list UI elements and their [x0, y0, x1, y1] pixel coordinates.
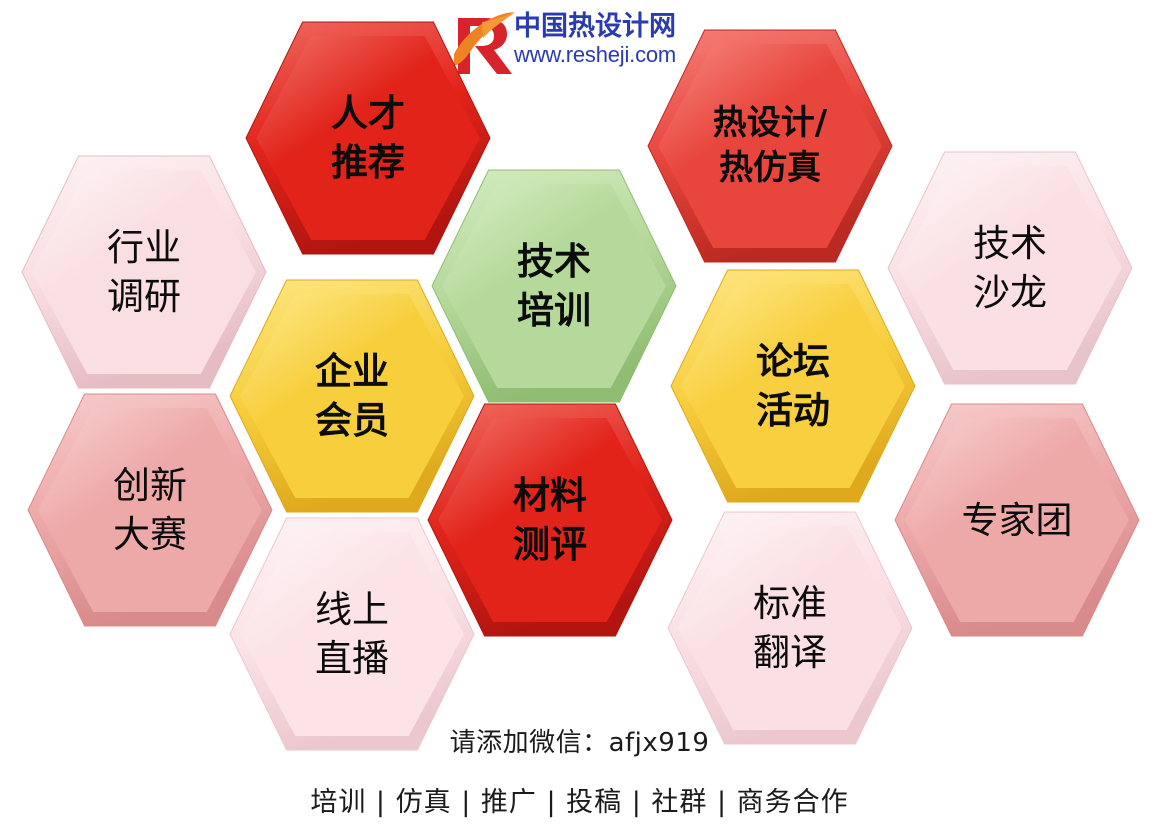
hex-tile-online-live[interactable]: 线上直播: [230, 518, 474, 750]
hex-tile-expert-team[interactable]: 专家团: [895, 404, 1139, 636]
services-tagline: 培训 | 仿真 | 推广 | 投稿 | 社群 | 商务合作: [0, 780, 1159, 819]
wechat-contact-line: 请添加微信：afjx919: [0, 722, 1159, 759]
infographic-canvas: 中国热设计网 www.resheji.com 人才推荐热设计/热仿真行业调研技术…: [0, 0, 1159, 828]
hex-tile-technical-salon[interactable]: 技术沙龙: [888, 152, 1132, 384]
hex-tile-thermal-design-simulation[interactable]: 热设计/热仿真: [648, 30, 892, 262]
hex-tile-forum-activity[interactable]: 论坛活动: [671, 270, 915, 502]
hex-tile-standard-translation[interactable]: 标准翻译: [668, 512, 912, 744]
